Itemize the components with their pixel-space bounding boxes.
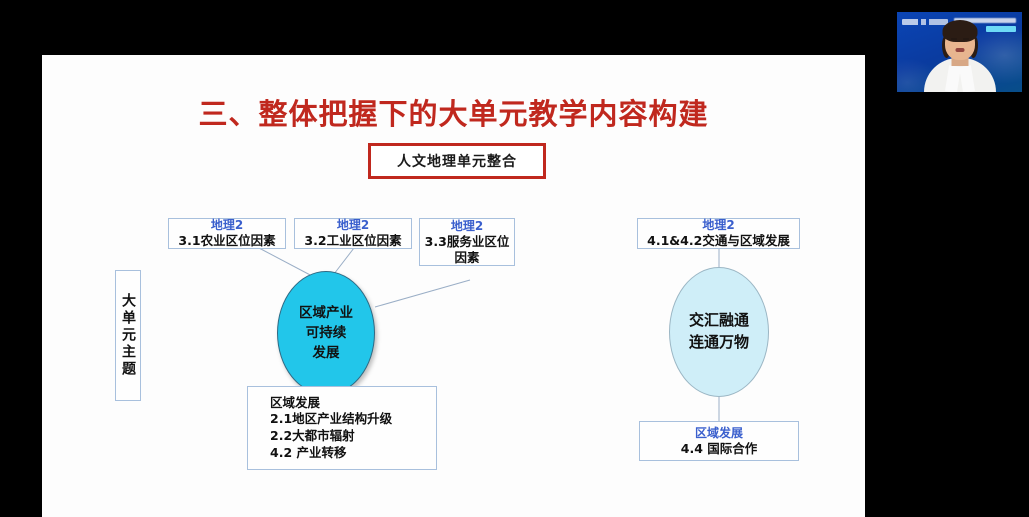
presenter-eye-left — [951, 38, 957, 41]
presenter-mouth — [955, 48, 964, 52]
center-node-left-text: 区域产业 可持续 发展 — [299, 303, 353, 364]
node-geography2-services: 地理2 3.3服务业区位因素 — [419, 218, 515, 266]
subtitle-box: 人文地理单元整合 — [368, 143, 546, 179]
presenter-video-overlay[interactable] — [897, 12, 1022, 92]
node-geography2-industry: 地理2 3.2工业区位因素 — [294, 218, 412, 249]
center-node-right-text: 交汇融通 连通万物 — [689, 310, 749, 354]
center-node-connectivity: 交汇融通 连通万物 — [669, 267, 769, 397]
broadcast-logo-icon — [902, 19, 948, 25]
big-unit-theme-label: 大单元主题 — [115, 270, 141, 401]
node-geography2-transport: 地理2 4.1&4.2交通与区域发展 — [637, 218, 800, 249]
center-node-regional-industry: 区域产业 可持续 发展 — [277, 271, 375, 395]
screen-root: 三、整体把握下的大单元教学内容构建 人文地理单元整合 大单元主题 地理2 3.1… — [0, 0, 1029, 517]
slide-canvas: 三、整体把握下的大单元教学内容构建 人文地理单元整合 大单元主题 地理2 3.1… — [42, 55, 865, 517]
node-regional-development-cooperation: 区域发展 4.4 国际合作 — [639, 421, 799, 461]
node-geography2-agriculture: 地理2 3.1农业区位因素 — [168, 218, 286, 249]
node-regional-development-list: 区域发展 2.1地区产业结构升级 2.2大都市辐射 4.2 产业转移 — [247, 386, 437, 470]
subtitle-text: 人文地理单元整合 — [397, 151, 517, 171]
video-subheadline-text — [986, 26, 1016, 32]
presenter-eye-right — [963, 38, 969, 41]
presenter-hair-top — [942, 20, 977, 42]
page-title: 三、整体把握下的大单元教学内容构建 — [42, 91, 865, 133]
